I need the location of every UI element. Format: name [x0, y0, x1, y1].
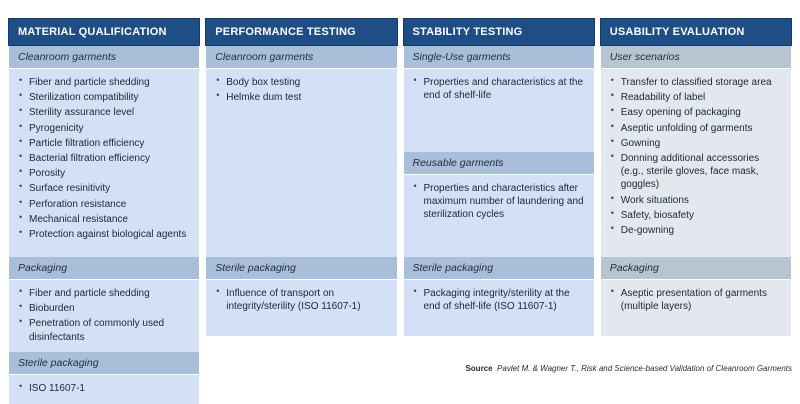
section-content: Properties and characteristics after max… [404, 175, 594, 231]
section-content: Properties and characteristics at the en… [404, 69, 594, 111]
list-item[interactable]: Fiber and particle shedding [13, 287, 191, 301]
list-item[interactable]: Work situations [605, 194, 783, 208]
section-band-label[interactable]: Single-Use garments [404, 46, 594, 69]
section-item-list: Body box testingHelmke dum test [210, 76, 388, 105]
section-content: Fiber and particle sheddingSterilization… [9, 69, 199, 250]
source-label: Source [465, 364, 492, 373]
list-item[interactable]: Protection against biological agents [13, 228, 191, 242]
section-band-label[interactable]: Packaging [9, 257, 199, 280]
list-item[interactable]: Gowning [605, 137, 783, 151]
column-body: Single-Use garmentsProperties and charac… [403, 46, 595, 336]
list-item[interactable]: ISO 11607-1 [13, 382, 191, 396]
list-item[interactable]: Body box testing [210, 76, 388, 90]
list-item[interactable]: Transfer to classified storage area [605, 76, 783, 90]
slide-canvas: MATERIAL QUALIFICATIONCleanroom garments… [0, 0, 800, 400]
section-item-list: ISO 11607-1 [13, 382, 191, 396]
column-body: Cleanroom garmentsFiber and particle she… [8, 46, 200, 355]
source-text: Pavlet M. & Wagner T., Risk and Science-… [497, 364, 792, 373]
list-item[interactable]: Properties and characteristics at the en… [408, 76, 586, 103]
section-content: Packaging integrity/sterility at the end… [404, 280, 594, 322]
section-item-list: Properties and characteristics at the en… [408, 76, 586, 103]
section-item-list: Fiber and particle sheddingBioburdenPene… [13, 287, 191, 345]
list-item[interactable]: Penetration of commonly used disinfectan… [13, 317, 191, 344]
matrix-section: Reusable garmentsProperties and characte… [404, 152, 594, 231]
section-content: Body box testingHelmke dum test [206, 69, 396, 113]
list-item[interactable]: Perforation resistance [13, 198, 191, 212]
source-citation: Source Pavlet M. & Wagner T., Risk and S… [0, 364, 792, 374]
matrix-section: PackagingFiber and particle sheddingBiob… [9, 257, 199, 353]
column-header[interactable]: USABILITY EVALUATION [600, 18, 792, 46]
section-band-label[interactable]: User scenarios [601, 46, 791, 69]
matrix-column: MATERIAL QUALIFICATIONCleanroom garments… [8, 18, 200, 355]
list-item[interactable]: Helmke dum test [210, 91, 388, 105]
list-item[interactable]: Donning additional accessories (e.g., st… [605, 152, 783, 193]
matrix-section: Single-Use garmentsProperties and charac… [404, 46, 594, 111]
column-body: User scenariosTransfer to classified sto… [600, 46, 792, 336]
column-header[interactable]: STABILITY TESTING [403, 18, 595, 46]
section-band-label[interactable]: Sterile packaging [404, 257, 594, 280]
section-band-label[interactable]: Sterile packaging [206, 257, 396, 280]
list-item[interactable]: Bioburden [13, 302, 191, 316]
matrix-section: User scenariosTransfer to classified sto… [601, 46, 791, 246]
matrix-section: Sterile packagingISO 11607-1 [9, 352, 199, 404]
section-band-label[interactable]: Cleanroom garments [9, 46, 199, 69]
section-item-list: Properties and characteristics after max… [408, 182, 586, 223]
list-item[interactable]: Easy opening of packaging [605, 106, 783, 120]
matrix-section: Sterile packagingPackaging integrity/ste… [404, 257, 594, 322]
matrix-column: USABILITY EVALUATIONUser scenariosTransf… [600, 18, 792, 336]
list-item[interactable]: Safety, biosafety [605, 209, 783, 223]
list-item[interactable]: Influence of transport on integrity/ster… [210, 287, 388, 314]
section-content: Aseptic presentation of garments (multip… [601, 280, 791, 322]
list-item[interactable]: Sterilization compatibility [13, 91, 191, 105]
list-item[interactable]: Aseptic presentation of garments (multip… [605, 287, 783, 314]
list-item[interactable]: Aseptic unfolding of garments [605, 122, 783, 136]
matrix-section: Sterile packagingInfluence of transport … [206, 257, 396, 322]
matrix-column: PERFORMANCE TESTINGCleanroom garmentsBod… [205, 18, 397, 336]
list-item[interactable]: Pyrogenicity [13, 122, 191, 136]
matrix-section: Cleanroom garmentsFiber and particle she… [9, 46, 199, 250]
section-content: Fiber and particle sheddingBioburdenPene… [9, 280, 199, 353]
matrix-section: Cleanroom garmentsBody box testingHelmke… [206, 46, 396, 113]
section-item-list: Fiber and particle sheddingSterilization… [13, 76, 191, 242]
column-header[interactable]: PERFORMANCE TESTING [205, 18, 397, 46]
list-item[interactable]: Mechanical resistance [13, 213, 191, 227]
list-item[interactable]: Bacterial filtration efficiency [13, 152, 191, 166]
section-content: Transfer to classified storage areaReada… [601, 69, 791, 246]
section-item-list: Influence of transport on integrity/ster… [210, 287, 388, 314]
list-item[interactable]: De-gowning [605, 224, 783, 238]
matrix-section: PackagingAseptic presentation of garment… [601, 257, 791, 322]
section-item-list: Transfer to classified storage areaReada… [605, 76, 783, 238]
matrix-column: STABILITY TESTINGSingle-Use garmentsProp… [403, 18, 595, 336]
list-item[interactable]: Readability of label [605, 91, 783, 105]
list-item[interactable]: Properties and characteristics after max… [408, 182, 586, 223]
list-item[interactable]: Porosity [13, 167, 191, 181]
section-content: Influence of transport on integrity/ster… [206, 280, 396, 322]
list-item[interactable]: Sterility assurance level [13, 106, 191, 120]
section-band-label[interactable]: Reusable garments [404, 152, 594, 175]
list-item[interactable]: Surface resinitivity [13, 182, 191, 196]
section-item-list: Aseptic presentation of garments (multip… [605, 287, 783, 314]
qualification-matrix: MATERIAL QUALIFICATIONCleanroom garments… [8, 18, 792, 355]
list-item[interactable]: Packaging integrity/sterility at the end… [408, 287, 586, 314]
section-item-list: Packaging integrity/sterility at the end… [408, 287, 586, 314]
list-item[interactable]: Fiber and particle shedding [13, 76, 191, 90]
column-body: Cleanroom garmentsBody box testingHelmke… [205, 46, 397, 336]
section-band-label[interactable]: Packaging [601, 257, 791, 280]
list-item[interactable]: Particle filtration efficiency [13, 137, 191, 151]
section-band-label[interactable]: Cleanroom garments [206, 46, 396, 69]
column-header[interactable]: MATERIAL QUALIFICATION [8, 18, 200, 46]
